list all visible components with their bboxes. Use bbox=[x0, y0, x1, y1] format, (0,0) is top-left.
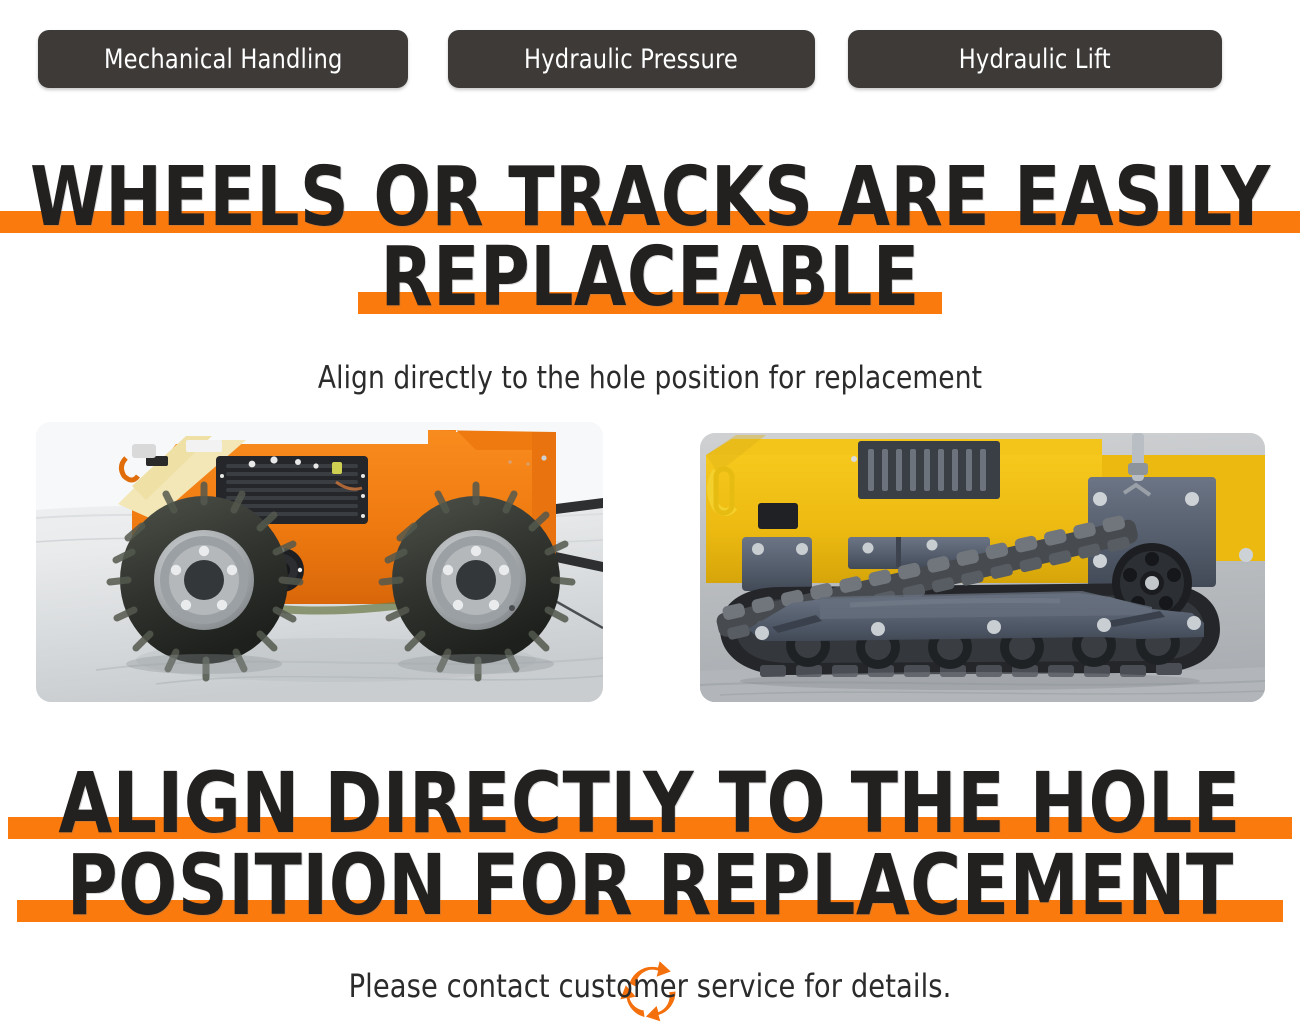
tab-label: Mechanical Handling bbox=[104, 44, 343, 75]
headline-top-line-1: WHEELS OR TRACKS ARE EASILY bbox=[0, 158, 1300, 238]
photo-wheeled-loader[interactable] bbox=[36, 422, 603, 702]
footer-note: Please contact customer service for deta… bbox=[33, 967, 1268, 1005]
feature-tab-bar: Mechanical Handling Hydraulic Pressure H… bbox=[0, 30, 1300, 90]
comparison-photo-row bbox=[0, 420, 1300, 710]
headline-text: ALIGN DIRECTLY TO THE HOLE bbox=[59, 762, 1241, 844]
headline-text: WHEELS OR TRACKS ARE EASILY bbox=[30, 158, 1271, 238]
tab-hydraulic-lift[interactable]: Hydraulic Lift bbox=[848, 30, 1222, 88]
tracked-loader-illustration bbox=[700, 433, 1265, 702]
headline-bottom: ALIGN DIRECTLY TO THE HOLE POSITION FOR … bbox=[0, 762, 1300, 927]
headline-top-line-2: REPLACEABLE bbox=[357, 238, 943, 318]
subtitle-top: Align directly to the hole position for … bbox=[33, 360, 1268, 396]
tab-label: Hydraulic Pressure bbox=[525, 44, 739, 75]
tab-hydraulic-pressure[interactable]: Hydraulic Pressure bbox=[448, 30, 815, 88]
tab-label: Hydraulic Lift bbox=[959, 44, 1111, 75]
tab-mechanical-handling[interactable]: Mechanical Handling bbox=[38, 30, 408, 88]
photo-tracked-undercarriage[interactable] bbox=[700, 433, 1265, 702]
headline-top: WHEELS OR TRACKS ARE EASILY REPLACEABLE bbox=[0, 158, 1300, 319]
headline-bottom-line-2: POSITION FOR REPLACEMENT bbox=[16, 844, 1285, 926]
headline-text: REPLACEABLE bbox=[380, 238, 919, 318]
wheeled-loader-illustration bbox=[36, 422, 603, 702]
product-feature-page: Mechanical Handling Hydraulic Pressure H… bbox=[0, 0, 1300, 1028]
headline-bottom-line-1: ALIGN DIRECTLY TO THE HOLE bbox=[7, 762, 1292, 844]
headline-text: POSITION FOR REPLACEMENT bbox=[66, 844, 1233, 926]
